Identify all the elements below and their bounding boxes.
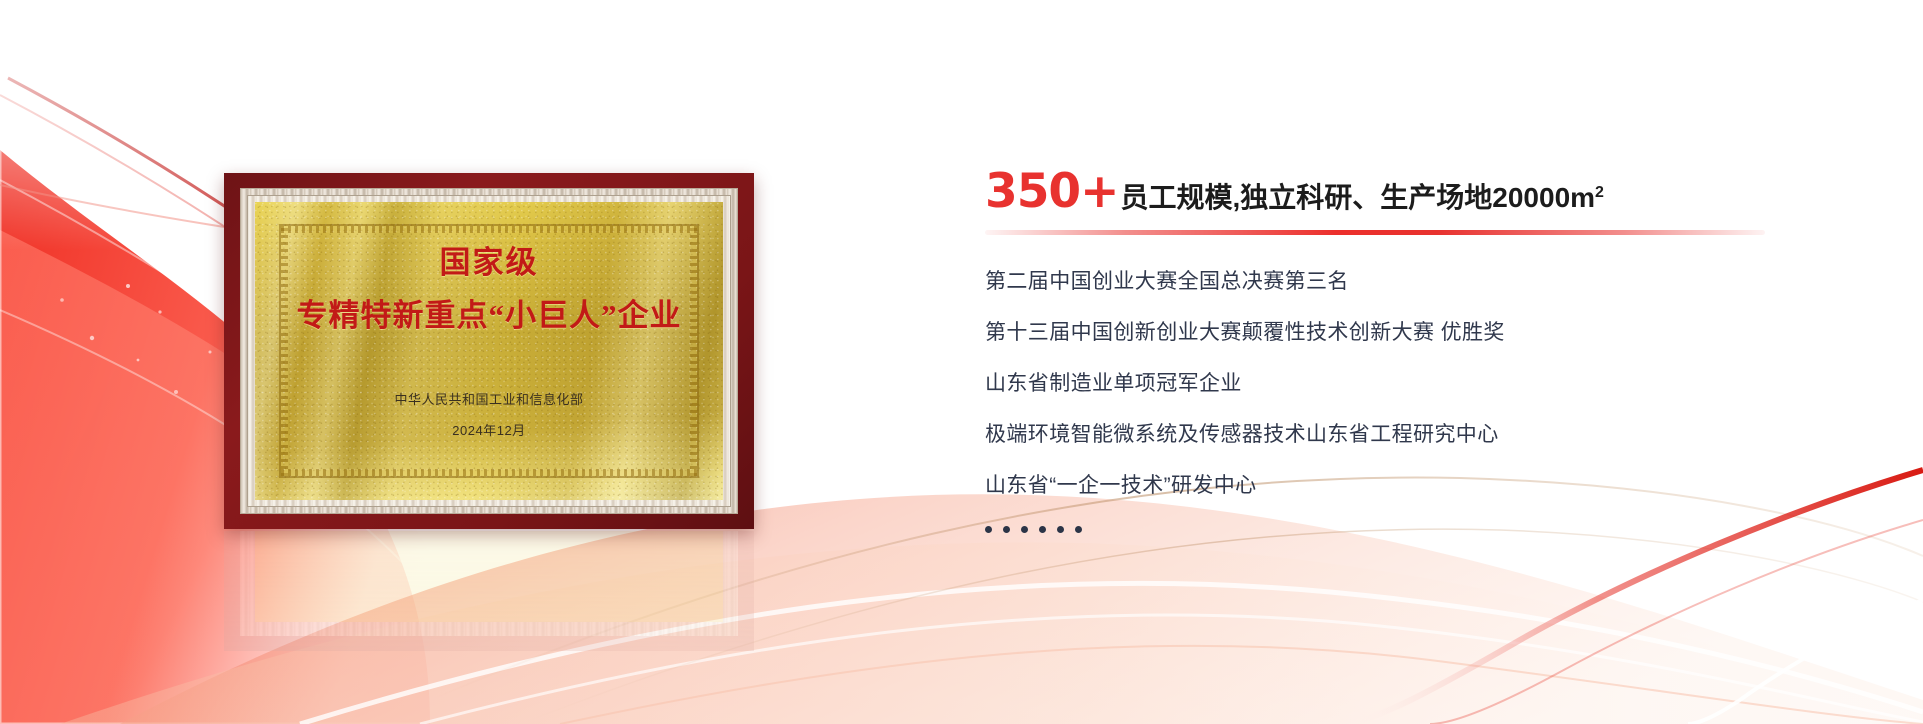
- bottom-peach-streak: [560, 646, 1923, 724]
- list-ellipsis: [985, 526, 1785, 533]
- ellipsis-dot: [985, 526, 992, 533]
- reflection-silver-band: [240, 531, 738, 636]
- headline-superscript: 2: [1595, 185, 1604, 201]
- reflection-gold-plate: [255, 531, 723, 622]
- headline: 350+ 员工规模,独立科研、生产场地20000m 2: [985, 168, 1785, 215]
- headline-description: 员工规模,独立科研、生产场地20000m: [1121, 184, 1596, 212]
- plaque-text-block: 国家级 专精特新重点“小巨人”企业 中华人民共和国工业和信息化部 2024年12…: [224, 173, 754, 529]
- plaque-reflection-inner: [224, 531, 754, 651]
- right-red-arc-thin: [1430, 520, 1923, 724]
- ellipsis-dot: [1003, 526, 1010, 533]
- bottom-peach-wave-2: [60, 542, 1923, 724]
- sparkle-dot: [193, 235, 199, 241]
- promo-banner: 国家级 专精特新重点“小巨人”企业 中华人民共和国工业和信息化部 2024年12…: [0, 0, 1923, 724]
- sparkle-dot: [90, 336, 94, 340]
- sparkle-dot: [174, 390, 178, 394]
- list-item: 山东省“一企一技术”研发中心: [985, 475, 1785, 496]
- plaque-issuer: 中华人民共和国工业和信息化部: [394, 393, 583, 406]
- bottom-white-streak-2: [420, 615, 1923, 724]
- sparkle-dot: [158, 310, 161, 313]
- list-item: 极端环境智能微系统及传感器技术山东省工程研究中心: [985, 424, 1785, 445]
- sparkle-dot: [60, 298, 64, 302]
- sparkle-dot: [126, 284, 130, 288]
- bottom-white-streak-1: [300, 583, 1923, 724]
- plaque-reflection: [224, 531, 754, 651]
- award-plaque: 国家级 专精特新重点“小巨人”企业 中华人民共和国工业和信息化部 2024年12…: [224, 173, 754, 529]
- sparkle-dot: [209, 351, 212, 354]
- sparkle-dot: [137, 359, 140, 362]
- reflection-frame: [224, 531, 754, 651]
- headline-number: 350+: [985, 168, 1119, 215]
- ellipsis-dot: [1075, 526, 1082, 533]
- right-content-column: 350+ 员工规模,独立科研、生产场地20000m 2 第二届中国创业大赛全国总…: [985, 168, 1785, 549]
- list-item: 第十三届中国创新创业大赛颠覆性技术创新大赛 优胜奖: [985, 322, 1785, 343]
- achievements-list: 第二届中国创业大赛全国总决赛第三名 第十三届中国创新创业大赛颠覆性技术创新大赛 …: [985, 271, 1785, 533]
- plaque-title-line-2: 专精特新重点“小巨人”企业: [297, 300, 682, 331]
- right-white-arc: [1688, 600, 1923, 724]
- headline-divider-rule: [985, 230, 1765, 235]
- list-item: 第二届中国创业大赛全国总决赛第三名: [985, 271, 1785, 292]
- ellipsis-dot: [1039, 526, 1046, 533]
- plaque-date: 2024年12月: [452, 424, 525, 437]
- plaque-title-line-1: 国家级: [440, 247, 539, 278]
- list-item: 山东省制造业单项冠军企业: [985, 373, 1785, 394]
- ellipsis-dot: [1021, 526, 1028, 533]
- tan-arc-2: [520, 529, 1923, 724]
- ellipsis-dot: [1057, 526, 1064, 533]
